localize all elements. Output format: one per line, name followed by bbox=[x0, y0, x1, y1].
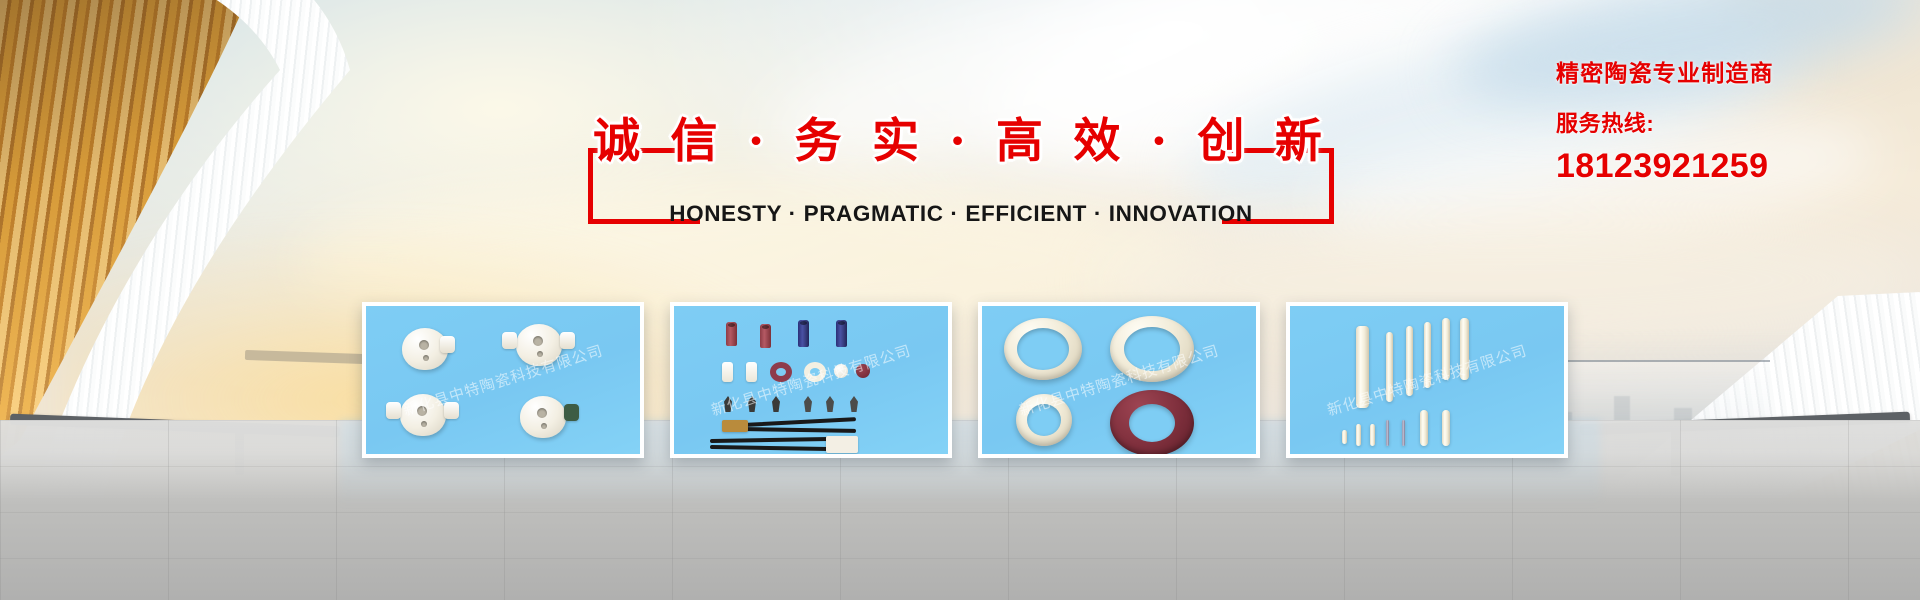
product-panel-4[interactable]: 新化县中特陶瓷科技有限公司 bbox=[1286, 302, 1568, 458]
product-gallery: 新化县中特陶瓷科技有限公司 bbox=[362, 302, 1582, 458]
slogan-english: HONESTY · PRAGMATIC · EFFICIENT · INNOVA… bbox=[588, 201, 1334, 227]
product-panel-3[interactable]: 新化县中特陶瓷科技有限公司 bbox=[978, 302, 1260, 458]
company-tagline: 精密陶瓷专业制造商 bbox=[1556, 62, 1876, 85]
product-panel-2[interactable]: 新化县中特陶瓷科技有限公司 bbox=[670, 302, 952, 458]
slogan-chinese: 诚 信 · 务 实 · 高 效 · 创 新 bbox=[588, 102, 1334, 171]
hotline-label: 服务热线: bbox=[1556, 113, 1876, 135]
slogan-block: 诚 信 · 务 实 · 高 效 · 创 新 HONESTY · PRAGMATI… bbox=[588, 148, 1334, 224]
product-panel-1[interactable]: 新化县中特陶瓷科技有限公司 bbox=[362, 302, 644, 458]
contact-block: 精密陶瓷专业制造商 服务热线: 18123921259 bbox=[1556, 62, 1876, 183]
hotline-number[interactable]: 18123921259 bbox=[1556, 149, 1876, 183]
banner-stage: 诚 信 · 务 实 · 高 效 · 创 新 HONESTY · PRAGMATI… bbox=[0, 0, 1920, 600]
